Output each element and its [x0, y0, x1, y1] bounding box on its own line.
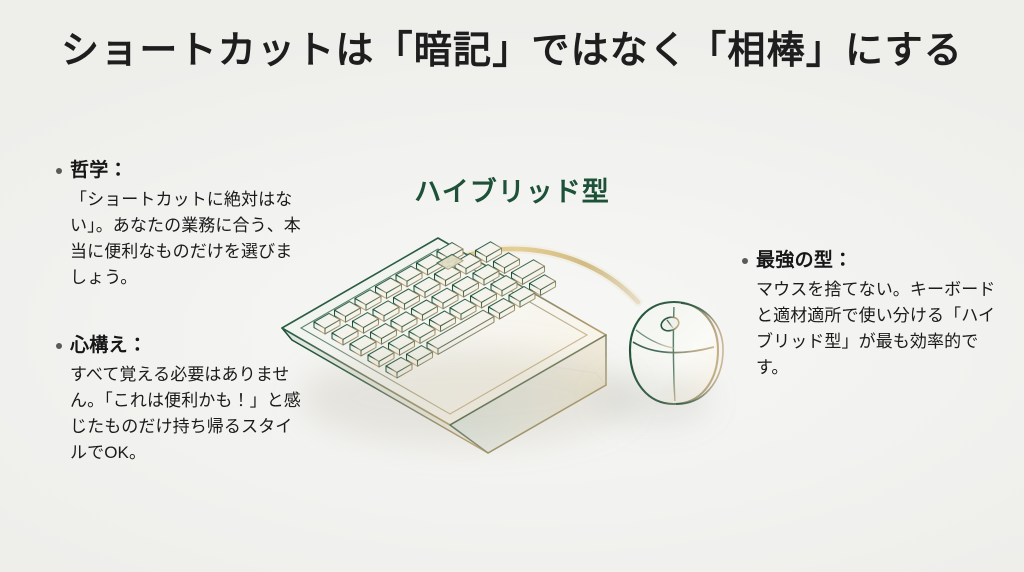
- hybrid-type-label: ハイブリッド型: [0, 170, 1024, 209]
- mouse-illustration: [630, 302, 723, 404]
- illustration-stage: [270, 210, 750, 470]
- slide-canvas: ショートカットは「暗記」ではなく「相棒」にする 哲学： 「ショートカットに絶対は…: [0, 0, 1024, 572]
- page-title: ショートカットは「暗記」ではなく「相棒」にする: [0, 28, 1024, 76]
- keyboard-illustration: [282, 238, 606, 453]
- bullet-heading-row: 最強の型：: [742, 248, 1000, 274]
- bullet-title-best-form: 最強の型：: [756, 248, 853, 274]
- devices-svg: [270, 210, 750, 470]
- bullet-dot-icon: [56, 343, 62, 349]
- bullet-body-best-form: マウスを捨てない。キーボードと適材適所で使い分ける「ハイブリッド型」が最も効率的…: [742, 277, 1000, 381]
- bullet-block-best-form: 最強の型： マウスを捨てない。キーボードと適材適所で使い分ける「ハイブリッド型」…: [742, 248, 1000, 381]
- bullet-title-mindset: 心構え：: [70, 333, 147, 359]
